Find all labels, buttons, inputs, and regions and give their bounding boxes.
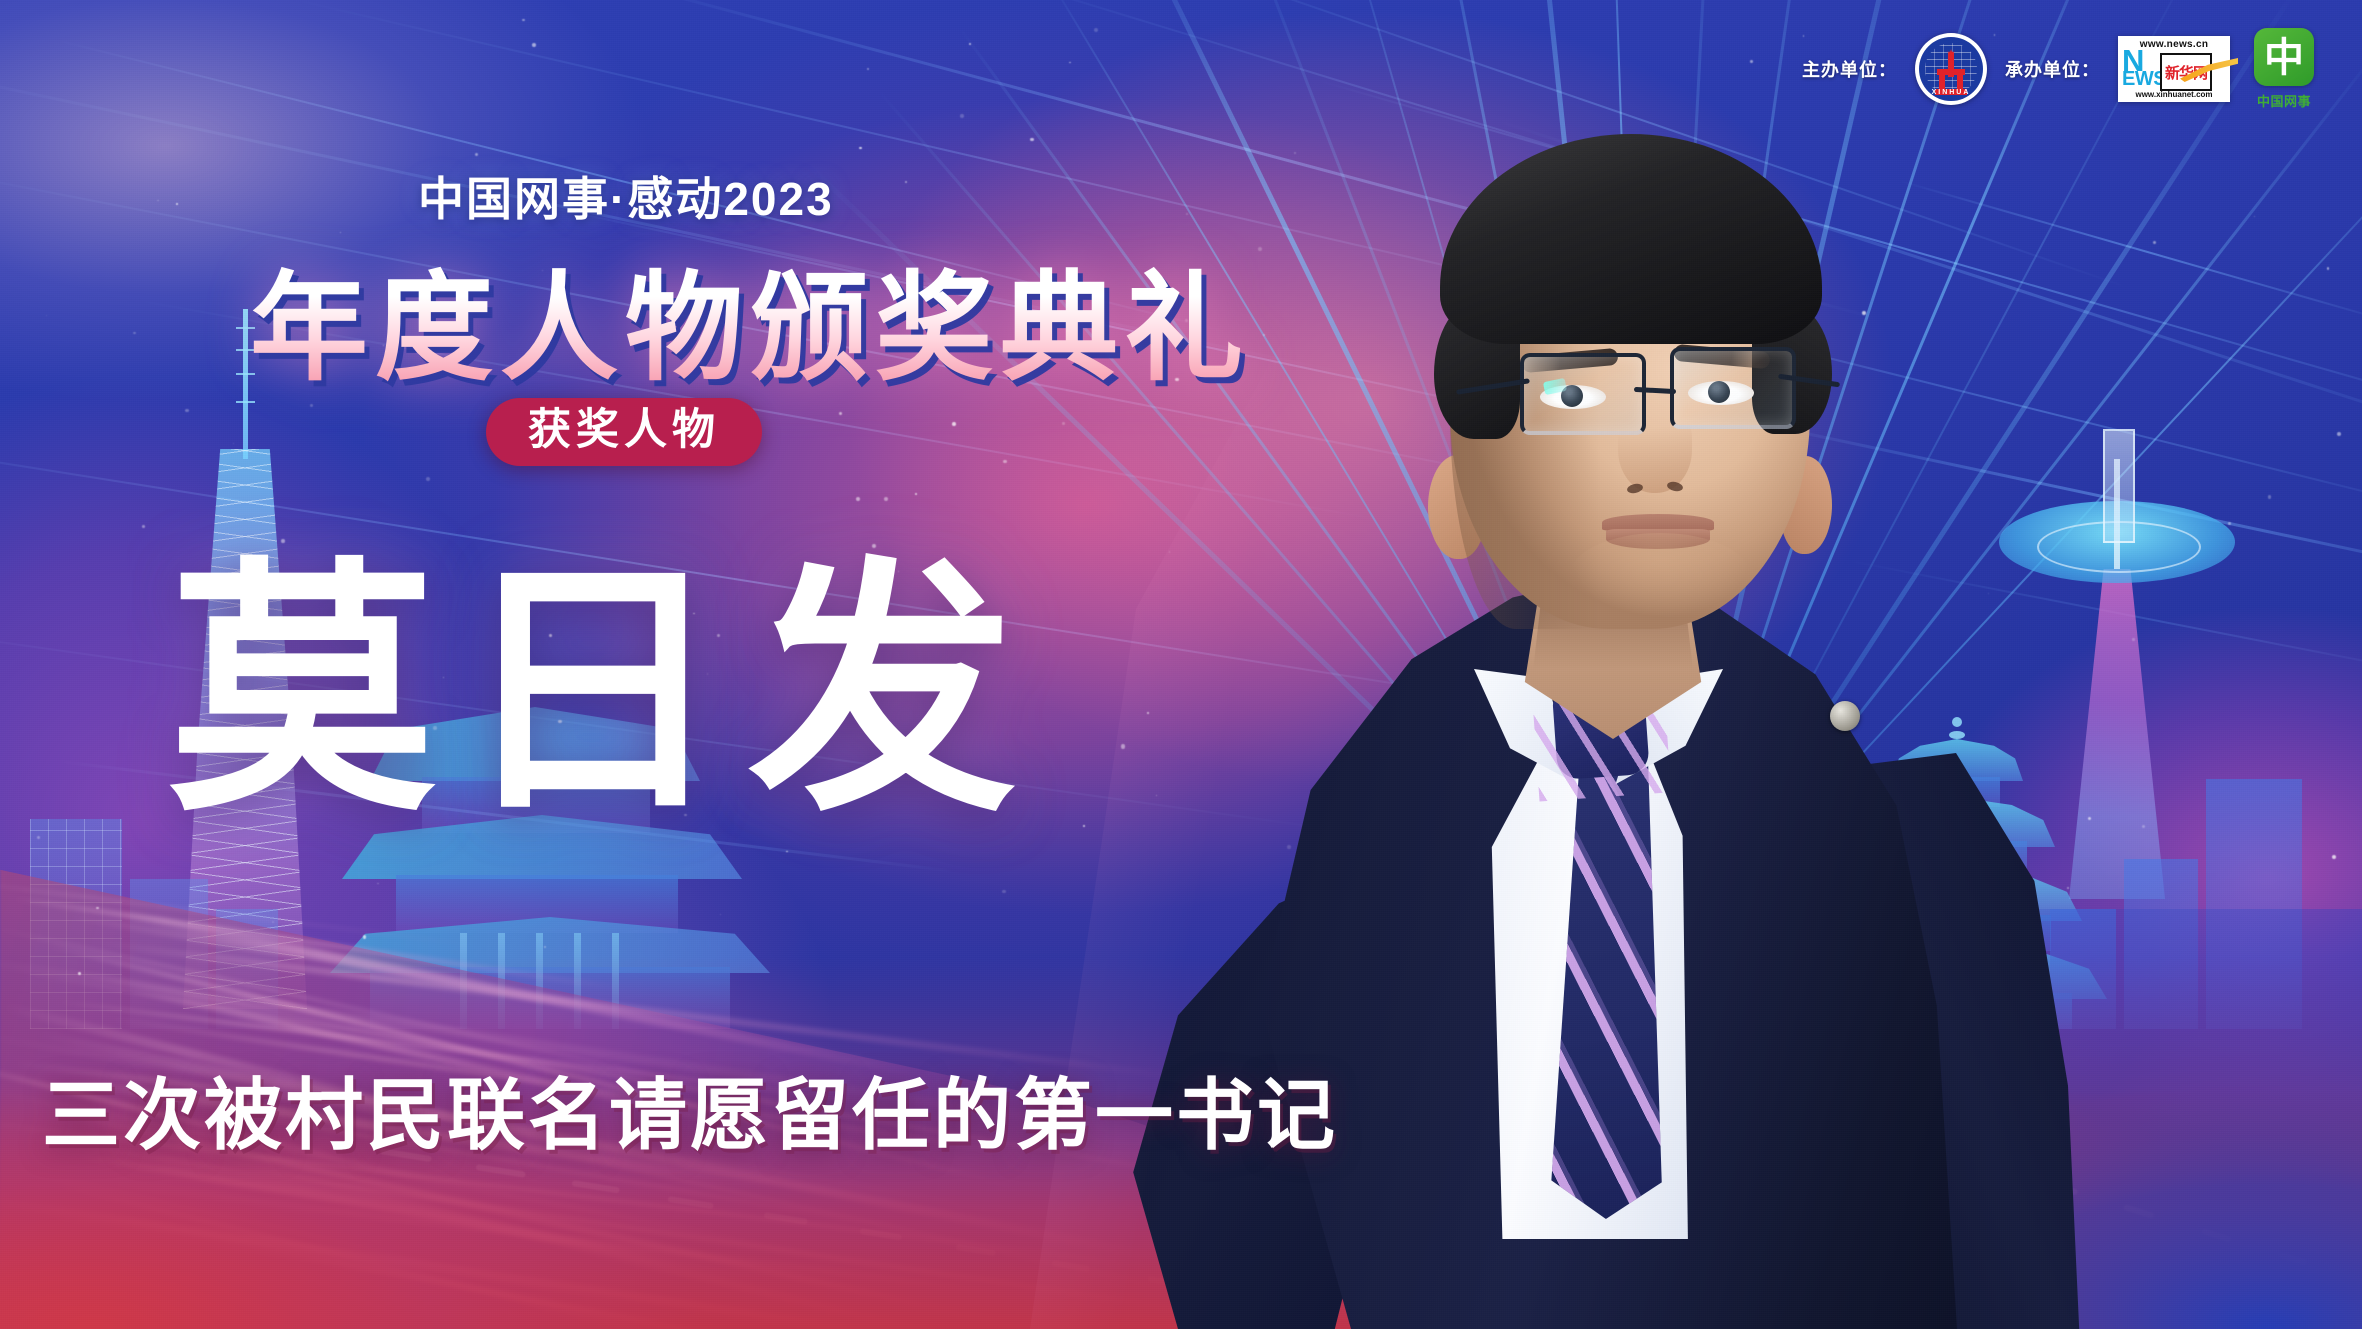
xinhua-news-agency-seal-icon: XINHUA [1915,33,1987,105]
iris-right [1708,381,1730,403]
neck-shadow [1508,559,1718,669]
eyebrow-left [1521,348,1618,373]
highway-light-trails [0,769,1750,1329]
lower-lip [1606,529,1710,549]
china-net-affairs-glyph: 中 [2248,31,2320,85]
nostril-left [1626,482,1644,494]
eyeglasses-glint [1543,378,1567,395]
hair-right-side [1752,304,1832,434]
nose [1618,403,1692,493]
china-net-affairs-caption: 中国网事 [2248,91,2320,110]
ear-left [1428,455,1486,559]
eyeglasses-bridge [1634,387,1676,394]
tv-tower-ring [2037,521,2201,573]
award-poster: 主办单位： XINHUA 承办单位： www.news.cn N EWS [0,0,2362,1329]
upper-lip [1602,514,1714,531]
chin-highlight [1570,533,1750,617]
eyebrow-right [1673,344,1770,369]
award-badge-label: 获奖人物 [528,406,720,454]
seal-wordmark: XINHUA [1919,89,1983,96]
eyeglasses-temple-left [1456,378,1530,395]
shirt-collar-right [1608,669,1733,789]
tv-tower-stem [2069,569,2165,899]
organizer-label: 主办单位： [1802,56,1897,82]
nostril-right [1666,480,1684,492]
necktie-knot [1552,688,1650,780]
event-subtitle: 中国网事·感动2023 [418,163,834,229]
xinhuanet-logo-icon: www.news.cn N EWS 新华网 www.xinhuanet.com [2118,36,2230,102]
ear-right [1780,456,1832,554]
hair-left-side [1434,299,1520,439]
iris-left [1561,385,1583,407]
tv-tower-with-saucer [1992,429,2242,899]
honoree-name: 莫日发 [168,560,1038,828]
eyeglasses-lens-right [1670,347,1796,429]
tv-tower-pole [2114,459,2120,569]
hair [1440,134,1822,344]
eyeglasses-temple-right [1778,374,1840,388]
honoree-caption: 三次被村民联名请愿留任的第一书记 [42,1077,1338,1155]
china-net-affairs-logo-icon: 中 中国网事 [2248,28,2320,110]
canton-tower-mast [243,309,248,459]
neck [1508,549,1718,739]
eye-right [1688,381,1754,405]
lapel-pin [1830,701,1860,731]
eye-left [1540,385,1606,409]
award-badge: 获奖人物 [486,398,762,466]
organizer-header: 主办单位： XINHUA 承办单位： www.news.cn N EWS [1802,28,2320,110]
right-road-sheen [1602,909,2362,1329]
radial-light-rays [900,0,2362,980]
shirt-collar-left [1462,669,1582,789]
tv-tower-antenna [2103,429,2135,543]
eyeglasses-lens-left [1520,353,1646,435]
event-title: 年度人物颁奖典礼 [250,232,1250,403]
coorganizer-label: 承办单位： [2005,56,2100,82]
xinhuanet-url-bottom: www.xinhuanet.com [2120,89,2228,101]
head-shadow [1450,179,1600,629]
head [1450,179,1810,629]
tv-tower-saucer [1999,501,2235,583]
